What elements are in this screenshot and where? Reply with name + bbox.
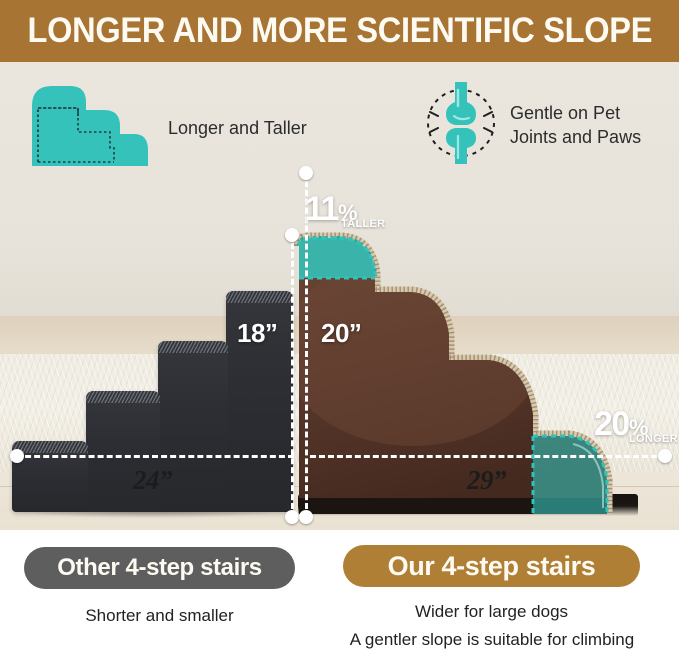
other-length-label: 24” xyxy=(133,465,172,496)
our-caption-1: Wider for large dogs xyxy=(343,602,640,622)
our-height-label: 20” xyxy=(321,318,361,349)
header-banner: LONGER AND MORE SCIENTIFIC SLOPE xyxy=(0,0,679,62)
product-scene: Longer and Taller Gentle on Pet Joints a… xyxy=(0,62,679,530)
page-title: LONGER AND MORE SCIENTIFIC SLOPE xyxy=(27,11,652,51)
other-stairs-pill[interactable]: Other 4-step stairs xyxy=(24,547,295,589)
our-length-line xyxy=(310,455,666,458)
our-length-label: 29” xyxy=(467,465,506,496)
measure-dot xyxy=(285,228,299,242)
measure-dot xyxy=(658,449,672,463)
taller-badge-sub: TALLER xyxy=(341,218,385,230)
measure-dot xyxy=(285,510,299,524)
measure-dot xyxy=(299,166,313,180)
other-stairs-pill-label: Other 4-step stairs xyxy=(57,554,261,582)
other-height-label: 18” xyxy=(237,318,277,349)
comparison-footer: Other 4-step stairs Our 4-step stairs Sh… xyxy=(0,530,679,657)
longer-badge-sub: LONGER xyxy=(629,433,678,445)
longer-badge-value: 20 xyxy=(594,407,629,441)
product-comparison-infographic: LONGER AND MORE SCIENTIFIC SLOPE Lon xyxy=(0,0,679,657)
measurement-overlay: 18” 20” 24” 29” 11 % TALLER 20 % xyxy=(0,62,679,530)
measure-dot xyxy=(10,449,24,463)
our-stairs-pill[interactable]: Our 4-step stairs xyxy=(343,545,640,587)
our-stairs-pill-label: Our 4-step stairs xyxy=(388,551,596,582)
taller-badge-value: 11 xyxy=(305,192,338,226)
other-caption-1: Shorter and smaller xyxy=(24,606,295,626)
measure-dot xyxy=(299,510,313,524)
other-height-line xyxy=(291,234,294,518)
our-caption-2: A gentler slope is suitable for climbing xyxy=(320,630,664,650)
other-length-line xyxy=(16,455,294,458)
